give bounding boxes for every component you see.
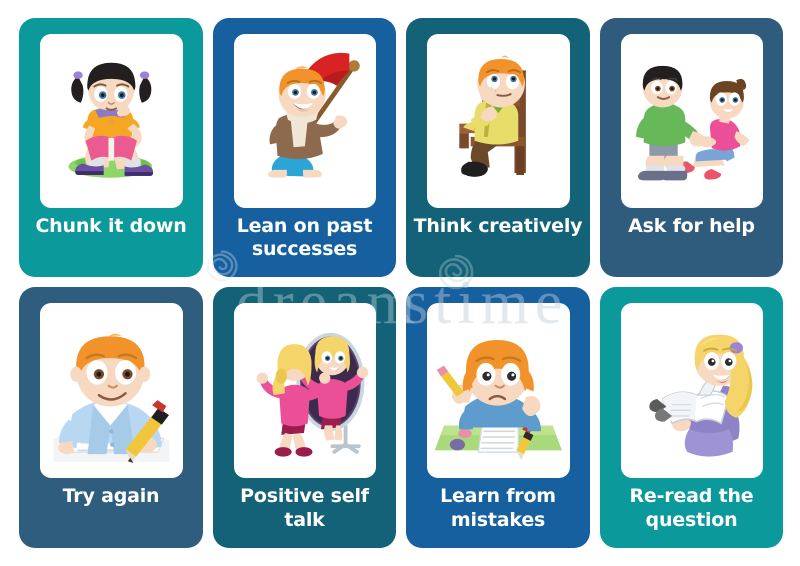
card-label: Re-read the question (607, 485, 775, 531)
card-illustration-boy-writing-with-pencil (40, 303, 183, 478)
card-illustration-girl-cheering-at-mirror (234, 303, 376, 478)
card-label: Ask for help (607, 215, 775, 238)
card-illustration-boy-sitting-on-chair-thinking (427, 34, 570, 208)
card-illustration-boy-at-desk-with-paper-and-pencil (427, 303, 570, 478)
card-label: Lean on past successes (220, 215, 388, 261)
flashcard-ask-for-help[interactable]: Ask for help (600, 18, 783, 277)
flashcard-positive-self-talk[interactable]: Positive self talk (213, 287, 396, 548)
flashcard-lean-on-past-successes[interactable]: Lean on past successes (213, 18, 396, 277)
flashcard-think-creatively[interactable]: Think creatively (406, 18, 590, 277)
card-illustration-girl-reading-open-book (621, 303, 763, 478)
flashcard-board: Chunk it down (0, 0, 800, 566)
flashcard-learn-from-mistakes[interactable]: Learn from mistakes (406, 287, 590, 548)
flashcard-re-read-the-question[interactable]: Re-read the question (600, 287, 783, 548)
flashcard-chunk-it-down[interactable]: Chunk it down (19, 18, 203, 277)
card-label: Think creatively (413, 215, 582, 238)
card-label: Try again (26, 485, 195, 508)
card-label: Chunk it down (26, 215, 195, 238)
card-label: Positive self talk (220, 485, 388, 531)
card-illustration-boy-holding-red-flag (234, 34, 376, 208)
card-label: Learn from mistakes (413, 485, 582, 531)
flashcard-try-again[interactable]: Try again (19, 287, 203, 548)
card-illustration-girl-reading-book-thinking (40, 34, 183, 208)
card-illustration-boy-helping-girl-up (621, 34, 763, 208)
